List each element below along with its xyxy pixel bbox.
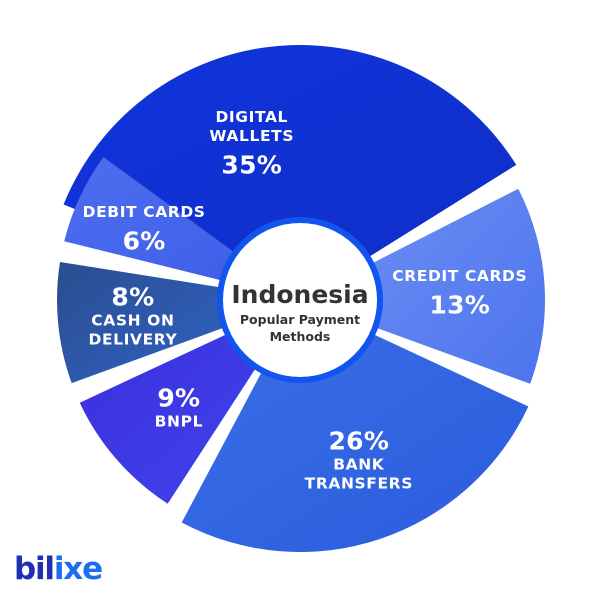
slice-name-label: DEBIT CARDS — [83, 203, 206, 221]
slice-name-label: CREDIT CARDS — [392, 267, 527, 285]
slice-percent-label: 35% — [221, 151, 282, 180]
center-title: Indonesia — [231, 280, 368, 309]
slice-percent-label: 6% — [123, 226, 166, 255]
slice-name-label: DELIVERY — [89, 331, 178, 349]
center-subtitle-line1: Popular Payment — [240, 312, 360, 327]
logo-text-part2: ixe — [54, 551, 102, 587]
slice-name-label: CASH ON — [91, 312, 174, 330]
center-subtitle-line2: Methods — [270, 329, 331, 344]
brand-logo: bilixe — [14, 552, 102, 586]
slice-percent-label: 9% — [157, 384, 200, 413]
slice-name-label: BANK — [333, 456, 385, 474]
donut-chart: DIGITALWALLETS35%CREDIT CARDS13%26%BANKT… — [0, 0, 600, 600]
donut-chart-svg: DIGITALWALLETS35%CREDIT CARDS13%26%BANKT… — [0, 0, 600, 600]
logo-text-part1: bil — [14, 551, 54, 587]
slice-percent-label: 8% — [111, 283, 154, 312]
slice-percent-label: 26% — [328, 427, 389, 456]
slice-name-label: DIGITAL — [215, 108, 288, 126]
slice-name-label: WALLETS — [209, 127, 294, 145]
slice-percent-label: 13% — [429, 291, 490, 320]
slice-name-label: BNPL — [155, 413, 203, 431]
slice-name-label: TRANSFERS — [305, 475, 413, 493]
